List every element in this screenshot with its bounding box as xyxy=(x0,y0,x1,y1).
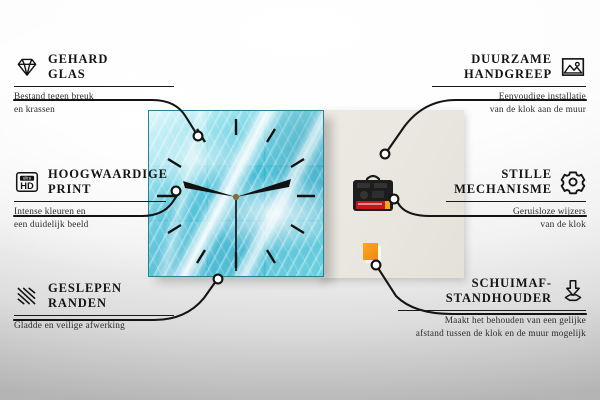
diamond-icon xyxy=(14,54,40,80)
feature-duurzame-handgreep[interactable]: DUURZAME HANDGREEP Eenvoudige installati… xyxy=(432,52,586,116)
beveled-edges-icon xyxy=(14,283,40,309)
desc-line-1: Geruisloze wijzers xyxy=(446,206,586,219)
title-line-2: HANDGREEP xyxy=(464,67,552,82)
feature-divider xyxy=(14,315,174,317)
desc-line-2: een duidelijk beeld xyxy=(14,219,166,232)
infographic-canvas: GEHARD GLAS Bestand tegen breuk en krass… xyxy=(0,0,600,400)
feature-geslepen-randen[interactable]: GESLEPEN RANDEN Gladde en veilige afwerk… xyxy=(14,281,174,333)
feature-title: GESLEPEN RANDEN xyxy=(48,281,122,312)
clock-glass-panel xyxy=(148,110,324,277)
desc-line-1: Eenvoudige installatie xyxy=(432,91,586,104)
movement-dial xyxy=(360,191,368,199)
feature-description: Geruisloze wijzers van de klok xyxy=(446,206,586,231)
battery-terminal xyxy=(385,201,390,209)
feature-header: STILLE MECHANISME xyxy=(446,167,586,198)
feature-description: Intense kleuren en een duidelijk beeld xyxy=(14,206,166,231)
title-line-2: PRINT xyxy=(48,182,168,197)
feature-header: ultra HD HOOGWAARDIGE PRINT xyxy=(14,167,166,198)
feature-divider xyxy=(398,310,586,312)
hd-label: HD xyxy=(20,181,34,191)
movement-detail-b xyxy=(374,183,387,188)
title-line-1: GEHARD xyxy=(48,52,108,67)
hands-hub xyxy=(233,194,239,200)
feature-description: Eenvoudige installatie van de klok aan d… xyxy=(432,91,586,116)
feature-description: Gladde en veilige afwerking xyxy=(14,320,174,333)
picture-frame-icon xyxy=(560,54,586,80)
desc-line-2: afstand tussen de klok en de muur mogeli… xyxy=(398,328,586,341)
movement-detail-c xyxy=(372,191,384,198)
feature-header: SCHUIMAF- STANDHOUDER xyxy=(398,276,586,307)
ultra-hd-icon: ultra HD xyxy=(14,169,40,195)
feature-title: GEHARD GLAS xyxy=(48,52,108,83)
clock-dial xyxy=(149,111,323,276)
clock-movement xyxy=(350,172,396,214)
feature-title: HOOGWAARDIGE PRINT xyxy=(48,167,168,198)
minute-hand xyxy=(236,179,291,197)
movement-detail-a xyxy=(357,183,370,188)
feature-title: SCHUIMAF- STANDHOUDER xyxy=(446,276,552,307)
title-line-2: RANDEN xyxy=(48,296,122,311)
feature-title: STILLE MECHANISME xyxy=(454,167,552,198)
feature-divider xyxy=(14,201,166,203)
desc-line-2: van de klok xyxy=(446,219,586,232)
feature-divider xyxy=(446,201,586,203)
desc-line-1: Maakt het behouden van een gelijke xyxy=(398,315,586,328)
feature-title: DUURZAME HANDGREEP xyxy=(464,52,552,83)
feature-hoogwaardige-print[interactable]: ultra HD HOOGWAARDIGE PRINT Intense kleu… xyxy=(14,167,166,231)
feature-gehard-glas[interactable]: GEHARD GLAS Bestand tegen breuk en krass… xyxy=(14,52,174,116)
title-line-1: SCHUIMAF- xyxy=(446,276,552,291)
feature-divider xyxy=(432,86,586,88)
gear-icon xyxy=(560,169,586,195)
feature-stille-mechanisme[interactable]: STILLE MECHANISME Geruisloze wijzers van… xyxy=(446,167,586,231)
battery-label xyxy=(358,203,382,205)
hour-hand xyxy=(183,181,236,197)
feature-header: GESLEPEN RANDEN xyxy=(14,281,174,312)
desc-line-1: Gladde en veilige afwerking xyxy=(14,320,174,333)
desc-line-2: en krassen xyxy=(14,104,174,117)
title-line-2: GLAS xyxy=(48,67,108,82)
desc-line-1: Bestand tegen breuk xyxy=(14,91,174,104)
feature-description: Bestand tegen breuk en krassen xyxy=(14,91,174,116)
title-line-1: HOOGWAARDIGE xyxy=(48,167,168,182)
feature-description: Maakt het behouden van een gelijke afsta… xyxy=(398,315,586,340)
title-line-2: STANDHOUDER xyxy=(446,291,552,306)
feature-schuimafstandhouder[interactable]: SCHUIMAF- STANDHOUDER Maakt het behouden… xyxy=(398,276,586,340)
feature-divider xyxy=(14,86,174,88)
desc-line-2: van de klok aan de muur xyxy=(432,104,586,117)
title-line-1: DUURZAME xyxy=(464,52,552,67)
title-line-1: STILLE xyxy=(454,167,552,182)
feature-header: DUURZAME HANDGREEP xyxy=(432,52,586,83)
feature-header: GEHARD GLAS xyxy=(14,52,174,83)
title-line-2: MECHANISME xyxy=(454,182,552,197)
desc-line-1: Intense kleuren en xyxy=(14,206,166,219)
foam-spacer-pad xyxy=(363,243,378,260)
title-line-1: GESLEPEN xyxy=(48,281,122,296)
press-down-icon xyxy=(560,278,586,304)
